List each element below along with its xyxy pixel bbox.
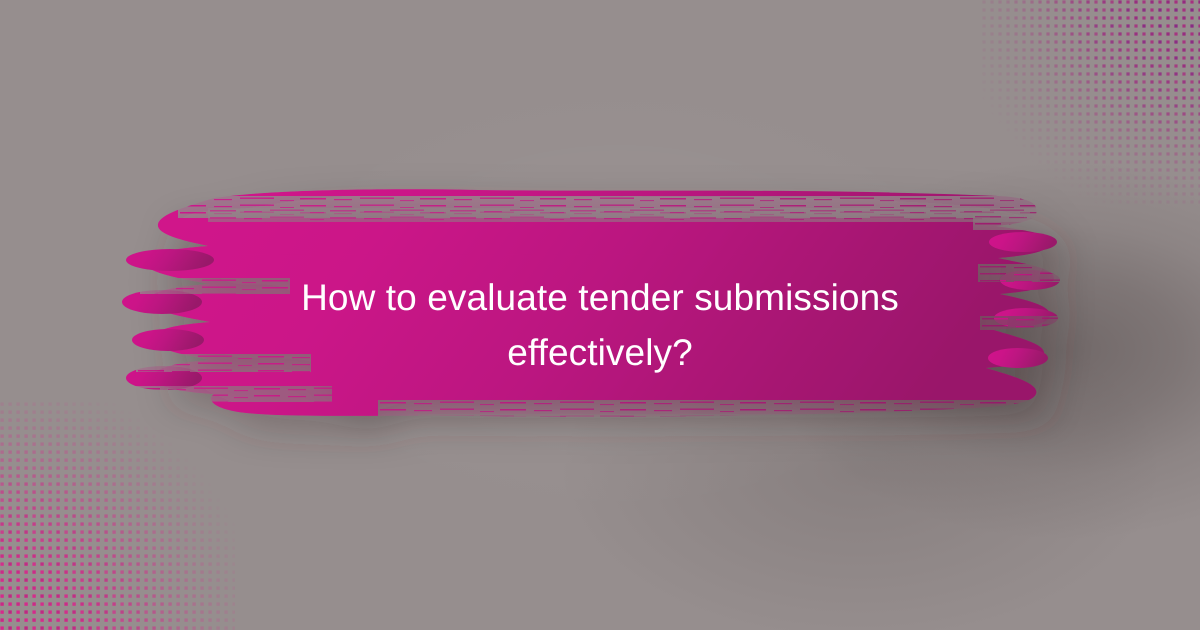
poster-canvas: How to evaluate tender submissions effec… xyxy=(0,0,1200,630)
page-title: How to evaluate tender submissions effec… xyxy=(190,270,1010,380)
